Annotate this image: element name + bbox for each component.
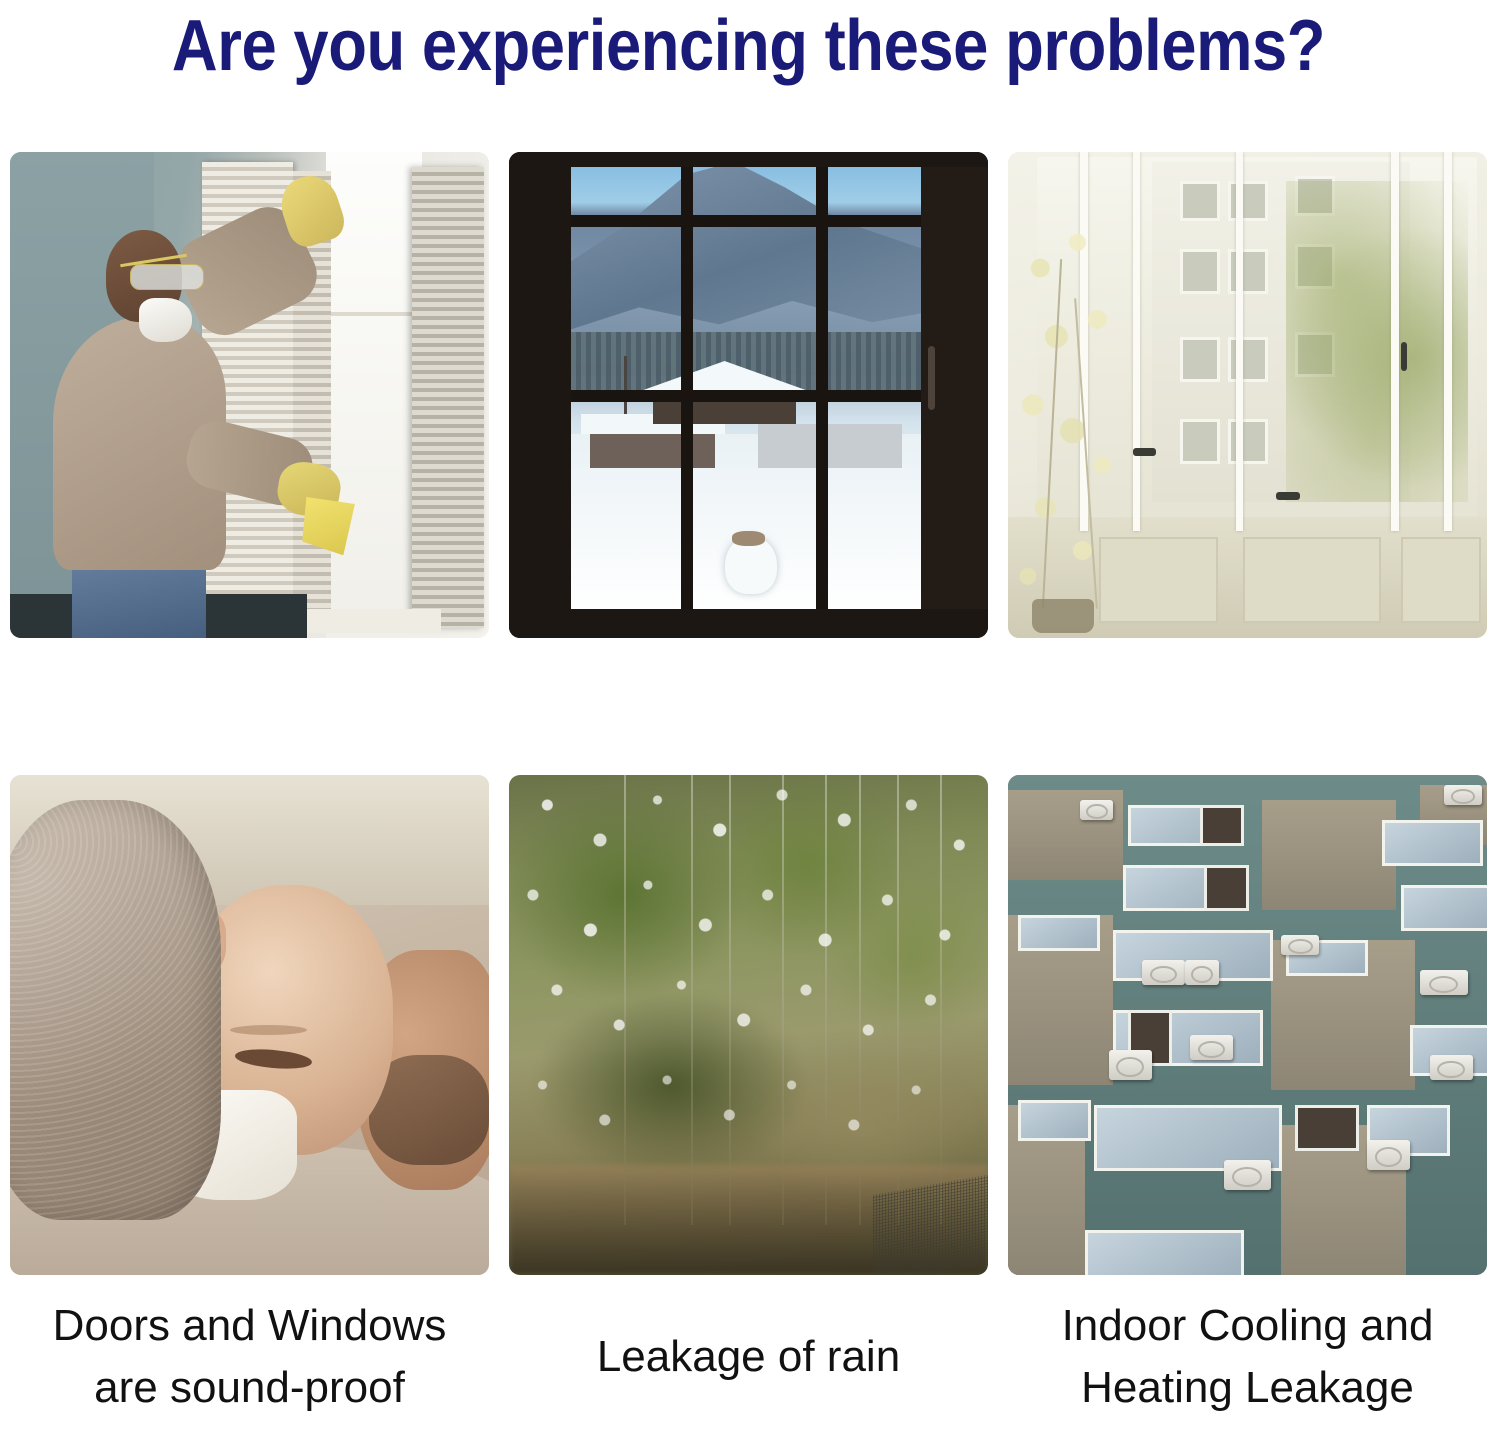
building-window-dark-shape <box>1200 805 1244 846</box>
photo-cooling-heating-leakage <box>1008 775 1487 1275</box>
air-conditioner-unit <box>1430 1055 1473 1080</box>
grid-cell-indoor-dusty[interactable] <box>10 152 489 638</box>
window-mullion-vertical-2 <box>816 162 828 609</box>
caption-leakage-of-rain: Leakage of rain <box>509 1295 988 1419</box>
far-window-shape <box>1180 181 1220 221</box>
air-conditioner-unit <box>1420 970 1468 995</box>
problem-grid: Indoor Dusty Windows Leak Mosquito Invas… <box>10 152 1487 638</box>
baby-brow-shape <box>230 1025 307 1035</box>
respirator-mask-shape <box>139 298 192 342</box>
house-tertiary-shape <box>758 424 902 468</box>
air-conditioner-unit <box>1080 800 1114 820</box>
far-window-shape <box>1228 337 1268 382</box>
far-window-shape <box>1228 419 1268 464</box>
caption-line-1: Indoor Cooling and <box>1008 1295 1487 1357</box>
far-window-shape <box>1180 249 1220 294</box>
building-window-shape <box>1085 1230 1244 1275</box>
window-mullion-horizontal-2 <box>566 390 930 402</box>
caption-line-1: Leakage of rain <box>509 1326 988 1388</box>
air-conditioner-unit <box>1224 1160 1272 1190</box>
grid-row-2 <box>10 775 1487 1275</box>
building-window-shape <box>1401 885 1487 931</box>
caption-line-2: Heating Leakage <box>1008 1357 1487 1419</box>
grid-cell-sound-proof[interactable] <box>10 775 489 1275</box>
grid-cell-leakage-of-rain[interactable] <box>509 775 988 1275</box>
building-window-dark-shape <box>1295 1105 1358 1151</box>
building-window-shape <box>1018 915 1101 951</box>
grid-cell-mosquito-invasion[interactable] <box>1008 152 1487 638</box>
photo-mosquito-invasion <box>1008 152 1487 638</box>
window-handle-shape <box>1401 342 1408 371</box>
snowman-hat-shape <box>732 531 766 546</box>
caption-sound-proof: Doors and Windows are sound-proof <box>10 1295 489 1419</box>
grid-cell-windows-leak[interactable] <box>509 152 988 638</box>
caption-line-1: Doors and Windows <box>10 1295 489 1357</box>
building-window-shape <box>1018 1100 1091 1141</box>
grid-cell-cooling-heating-leakage[interactable] <box>1008 775 1487 1275</box>
far-window-shape <box>1228 249 1268 294</box>
building-window-shape <box>1382 820 1484 866</box>
window-mullion-horizontal-1 <box>566 215 930 227</box>
air-conditioner-unit <box>1281 935 1319 955</box>
caption-line-2: are sound-proof <box>10 1357 489 1419</box>
air-conditioner-unit <box>1109 1050 1152 1080</box>
air-conditioner-unit <box>1142 960 1185 985</box>
window-handle-shape <box>1276 492 1300 500</box>
wall-panel-shape <box>1401 537 1482 624</box>
plant-pot-shape <box>1032 599 1094 633</box>
air-conditioner-unit <box>1190 1035 1233 1060</box>
window-frame-left <box>509 152 571 638</box>
far-window-shape <box>1228 181 1268 221</box>
window-handle-shape <box>928 346 936 409</box>
building-window-dark-shape <box>1204 865 1248 911</box>
flowering-branches-shape <box>1013 191 1138 619</box>
photo-windows-leak <box>509 152 988 638</box>
shutter-right-shape <box>412 167 484 629</box>
window-mullion-shape <box>1236 152 1244 531</box>
photo-indoor-dusty <box>10 152 489 638</box>
air-conditioner-unit <box>1367 1140 1410 1170</box>
blanket-texture-shape <box>10 800 221 1220</box>
grid-row-1 <box>10 152 1487 638</box>
photo-leakage-of-rain <box>509 775 988 1275</box>
wall-panel-shape <box>1243 537 1381 624</box>
air-conditioner-unit <box>1444 785 1482 805</box>
window-mullion-shape <box>1391 152 1399 531</box>
concrete-slab-shape <box>1262 800 1396 910</box>
window-frame-bottom <box>509 609 988 638</box>
window-mullion-vertical-1 <box>681 162 693 609</box>
window-mullion-shape <box>1444 152 1452 531</box>
page-title: Are you experiencing these problems? <box>90 0 1407 94</box>
caption-row-2: Doors and Windows are sound-proof Leakag… <box>10 1295 1487 1419</box>
foliage-shape <box>1286 181 1468 502</box>
photo-sound-proof <box>10 775 489 1275</box>
far-window-shape <box>1180 337 1220 382</box>
window-frame-top <box>509 152 988 167</box>
air-conditioner-unit <box>1185 960 1219 985</box>
far-window-shape <box>1180 419 1220 464</box>
safety-goggles-shape <box>130 264 204 290</box>
window-bar-shape <box>326 312 422 316</box>
caption-cooling-heating-leakage: Indoor Cooling and Heating Leakage <box>1008 1295 1487 1419</box>
